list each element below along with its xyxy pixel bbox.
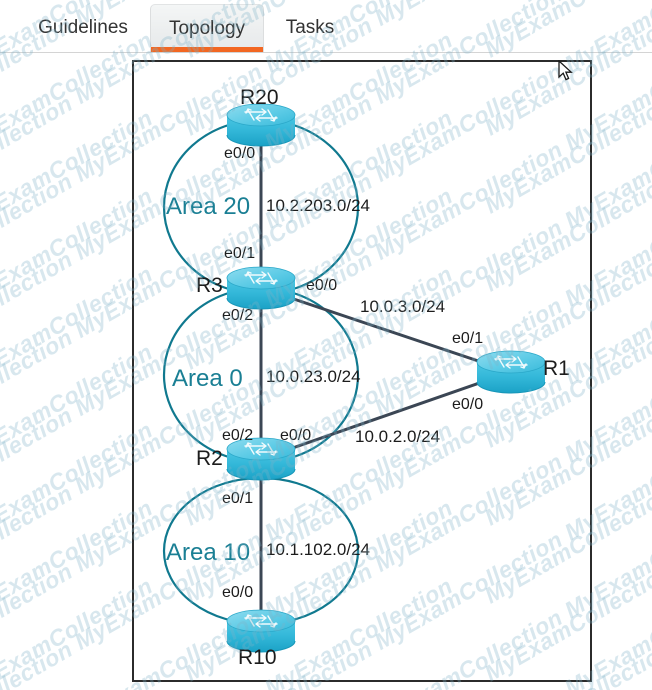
subnet-label-0: 10.2.203.0/24 [266, 196, 370, 216]
router-label-r20: R20 [240, 86, 279, 110]
subnet-label-2: 10.0.23.0/24 [266, 367, 361, 387]
interface-label-2-a: e0/2 [222, 307, 253, 325]
router-icon-r1[interactable] [477, 351, 545, 393]
area-label-1: Area 0 [172, 365, 243, 393]
interface-label-0-b: e0/1 [224, 245, 255, 263]
router-icon-r3[interactable] [227, 267, 295, 309]
interface-label-0-a: e0/0 [224, 145, 255, 163]
mouse-cursor [558, 60, 574, 82]
area-label-0: Area 20 [166, 193, 250, 221]
tab-topology-label: Topology [169, 18, 245, 40]
subnet-label-3: 10.0.2.0/24 [355, 427, 440, 447]
interface-label-3-b: e0/0 [452, 396, 483, 414]
router-label-r10: R10 [238, 646, 277, 670]
interface-label-4-a: e0/1 [222, 490, 253, 508]
interface-label-2-b: e0/2 [222, 427, 253, 445]
tab-tasks[interactable]: Tasks [272, 4, 348, 52]
tab-topology[interactable]: Topology [150, 4, 264, 52]
interface-label-1-a: e0/0 [306, 277, 337, 295]
tab-guidelines-label: Guidelines [38, 17, 128, 39]
tab-tasks-label: Tasks [286, 17, 335, 39]
interface-label-1-b: e0/1 [452, 330, 483, 348]
router-label-r1: R1 [543, 357, 570, 381]
interface-label-4-b: e0/0 [222, 584, 253, 602]
interface-label-3-a: e0/0 [280, 427, 311, 445]
tab-bar: Guidelines Topology Tasks [0, 0, 652, 53]
subnet-label-1: 10.0.3.0/24 [360, 297, 445, 317]
router-label-r3: R3 [196, 274, 223, 298]
active-tab-indicator [151, 47, 263, 52]
router-icon-r20[interactable] [227, 104, 295, 146]
router-label-r2: R2 [196, 447, 223, 471]
topology-diagram [0, 0, 652, 690]
area-label-2: Area 10 [166, 539, 250, 567]
subnet-label-4: 10.1.102.0/24 [266, 540, 370, 560]
tab-guidelines[interactable]: Guidelines [22, 4, 144, 52]
